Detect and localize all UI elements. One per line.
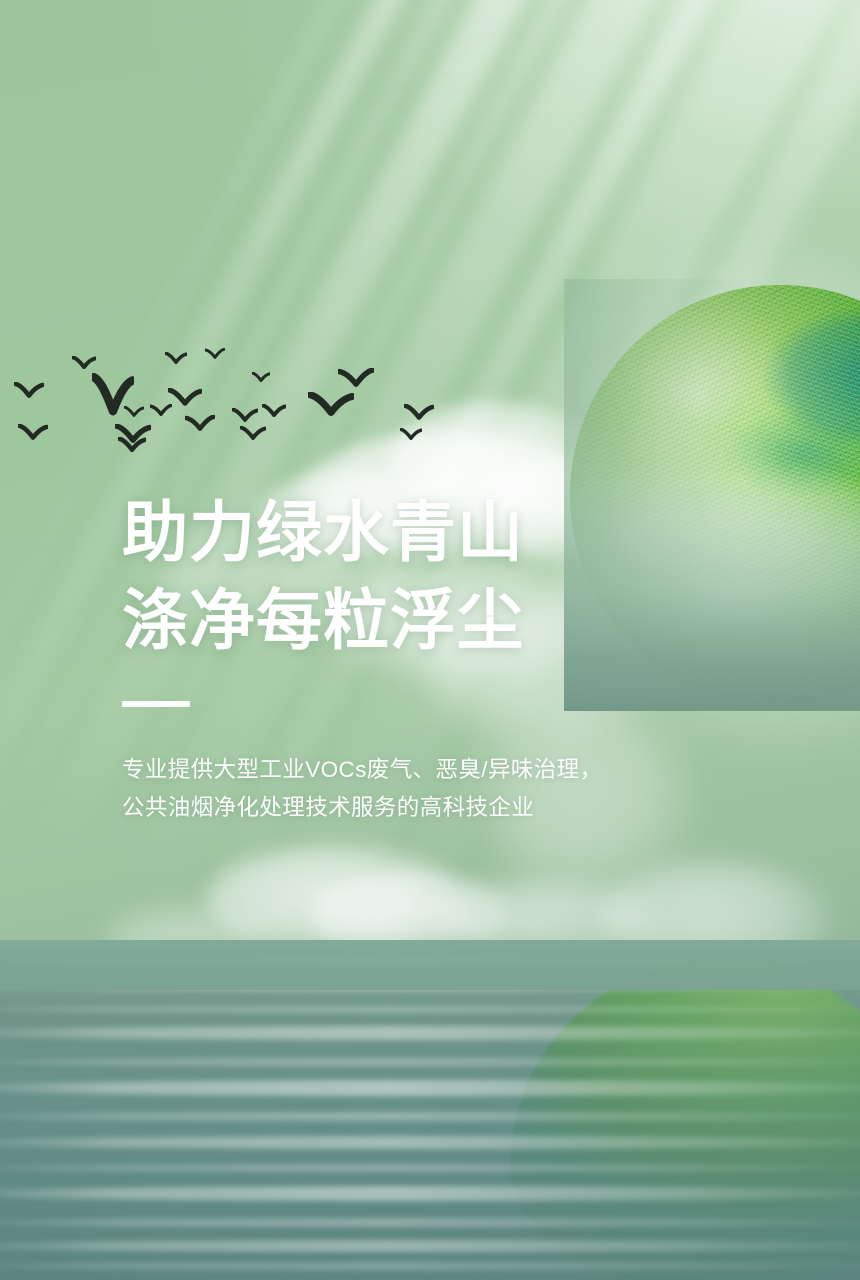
wave-11: [0, 1218, 860, 1227]
wave-5: [0, 1058, 860, 1066]
wave-6: [0, 1080, 860, 1096]
hero-poster: 助力绿水青山 涤净每粒浮尘 专业提供大型工业VOCs废气、恶臭/异味治理， 公共…: [0, 0, 860, 1280]
subtitle-line-1: 专业提供大型工业VOCs废气、恶臭/异味治理，: [122, 751, 642, 789]
headline-line-1: 助力绿水青山: [122, 488, 682, 576]
wave-4: [0, 1026, 860, 1040]
wave-3: [0, 1006, 860, 1013]
water-horizon-blend: [0, 940, 860, 990]
wave-13: [0, 1262, 860, 1270]
headline-divider: [122, 701, 190, 707]
wave-7: [0, 1112, 860, 1121]
wave-9: [0, 1164, 860, 1172]
water-ripples: [0, 940, 860, 1280]
wave-12: [0, 1240, 860, 1252]
wave-10: [0, 1186, 860, 1201]
subtitle-line-2: 公共油烟净化处理技术服务的高科技企业: [122, 789, 642, 827]
water-surface: [0, 940, 860, 1280]
wave-8: [0, 1136, 860, 1149]
headline-line-2: 涤净每粒浮尘: [122, 576, 682, 664]
hero-content: 助力绿水青山 涤净每粒浮尘 专业提供大型工业VOCs废气、恶臭/异味治理， 公共…: [122, 488, 682, 827]
subtitle: 专业提供大型工业VOCs废气、恶臭/异味治理， 公共油烟净化处理技术服务的高科技…: [122, 751, 642, 827]
